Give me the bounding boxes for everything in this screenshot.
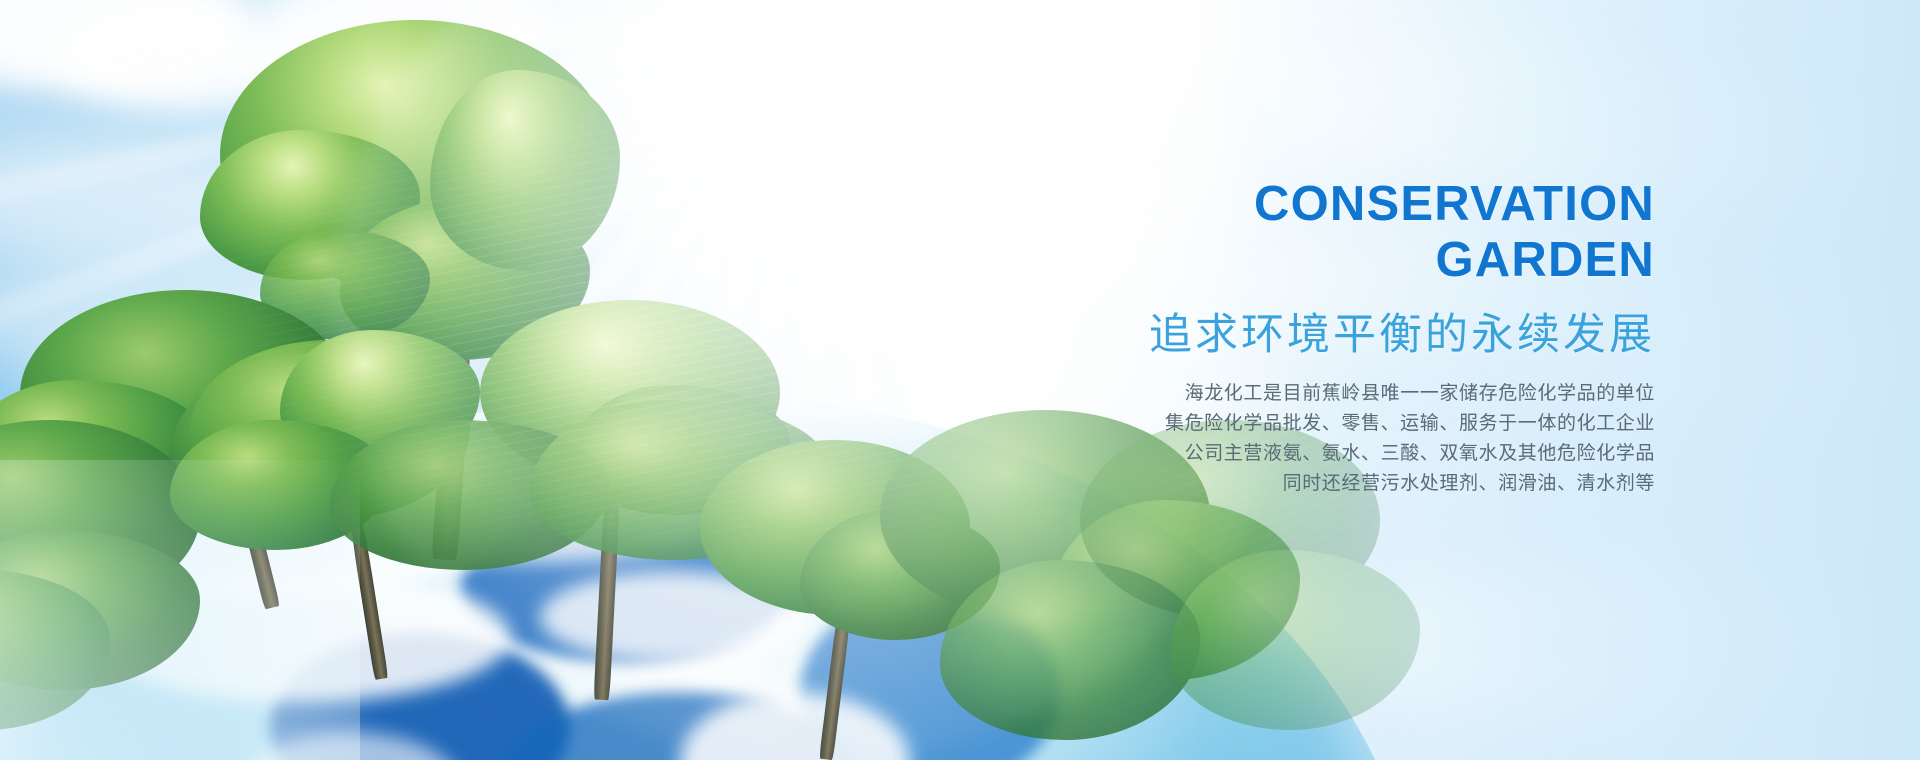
headline-chinese: 追求环境平衡的永续发展 <box>1015 308 1655 362</box>
description-line: 海龙化工是目前蕉岭县唯一一家储存危险化学品的单位 <box>1015 378 1655 408</box>
description-line: 公司主营液氨、氨水、三酸、双氧水及其他危险化学品 <box>1015 438 1655 468</box>
headline-english-line1: CONSERVATION <box>1254 177 1655 231</box>
banner-description: 海龙化工是目前蕉岭县唯一一家储存危险化学品的单位 集危险化学品批发、零售、运输、… <box>1015 378 1655 498</box>
headline-english: CONSERVATION GARDEN <box>1015 176 1655 288</box>
banner-copy: CONSERVATION GARDEN 追求环境平衡的永续发展 海龙化工是目前蕉… <box>1015 176 1655 498</box>
headline-english-line2: GARDEN <box>1015 232 1655 288</box>
stripe-texture-left <box>0 120 960 540</box>
description-line: 集危险化学品批发、零售、运输、服务于一体的化工企业 <box>1015 408 1655 438</box>
description-line: 同时还经营污水处理剂、润滑油、清水剂等 <box>1015 468 1655 498</box>
hero-banner: CONSERVATION GARDEN 追求环境平衡的永续发展 海龙化工是目前蕉… <box>0 0 1920 760</box>
